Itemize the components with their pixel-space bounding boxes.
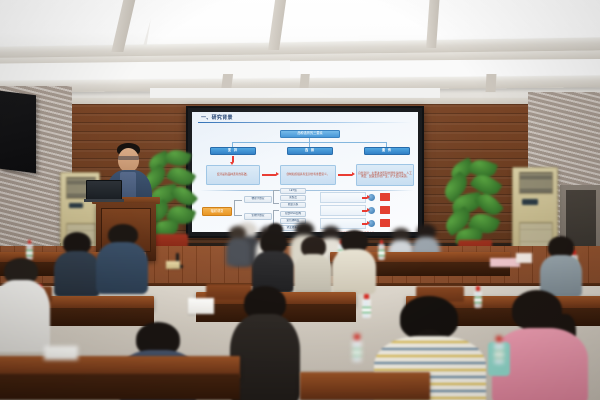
desk-row-c-right (300, 372, 430, 400)
mol-red-box-2 (380, 219, 390, 227)
tree-bracket-left (234, 200, 242, 216)
ceiling (0, 0, 600, 112)
mol-red-box-1 (380, 206, 390, 214)
slide-flow-box-2: 自然变异：主要进化历程的遗传多样性。人工诱变：加速变异的产生，扩大变异来源。 (356, 164, 414, 186)
ac-display-left (69, 203, 83, 208)
slide-pillar-0: 变 异 (210, 147, 256, 155)
slide-phys-item-2: 能量沉积 (280, 202, 306, 208)
slide-title: 一、研究背景 (195, 114, 415, 121)
audience-member-3 (252, 230, 294, 290)
audience-member-5 (332, 230, 376, 292)
desk-panel-c-left (0, 374, 240, 400)
slide-phys-item-0: LET值 (280, 188, 306, 194)
tree-bracket-phys (273, 190, 279, 204)
slide-flow-box-1: 创制和挖掘具有变异的有重要意义。 (280, 165, 336, 185)
presenter-head (118, 148, 139, 172)
slide-pillar-1: 选 择 (287, 147, 333, 155)
wall-mounted-speaker (0, 91, 36, 173)
audience-member-8 (230, 286, 300, 400)
mol-panel-1 (320, 205, 366, 216)
stage-object (166, 261, 180, 269)
slide-divider (200, 190, 414, 191)
slide-flow-box-0: 变异是新品种选育的基础。 (206, 165, 260, 185)
slide-branch-root: 辐射诱变 (202, 207, 232, 216)
notebook[interactable] (188, 298, 214, 314)
conference-room-scene: 一、研究背景 品种选育的三要素 变 异 选 择 遗 传 变异是新品种选育的基础。 (0, 0, 600, 400)
slide-phys-item-1: 离聚法 (280, 195, 306, 201)
water-bottle[interactable] (378, 240, 385, 260)
water-bottle[interactable] (26, 240, 33, 260)
slide-top-node: 品种选育的三要素 (280, 130, 340, 138)
audience-member-6 (540, 236, 582, 294)
audience-member-10 (492, 290, 588, 400)
water-bottle[interactable] (494, 336, 504, 364)
paper-cup[interactable] (516, 253, 532, 263)
ac-grille-right (519, 172, 553, 194)
slide-pillar-2: 遗 传 (364, 147, 410, 155)
notebook[interactable] (44, 346, 78, 360)
ac-display-right (522, 199, 538, 205)
projection-screen[interactable]: 一、研究背景 品种选育的三要素 变 异 选 择 遗 传 变异是新品种选育的基础。 (186, 106, 424, 238)
slide-branch-physical: 物理学效应 (244, 196, 272, 203)
audience-member-1 (54, 232, 100, 294)
slide-title-divider (198, 122, 412, 123)
arrow-right-red-1 (262, 174, 276, 176)
screen-surface: 一、研究背景 品种选育的三要素 变 异 选 择 遗 传 变异是新品种选育的基础。 (192, 112, 418, 232)
slide-bio-item-0: 损伤DNA结构 (280, 211, 306, 217)
slide-branch-biological: 生物学效应 (244, 213, 272, 220)
presentation-slide: 一、研究背景 品种选育的三要素 变 异 选 择 遗 传 变异是新品种选育的基础。 (192, 112, 418, 232)
arrow-down-red (232, 156, 234, 162)
mol-panel-0 (320, 192, 366, 203)
audience-member-far-0 (226, 226, 250, 264)
arrow-right-red-2 (338, 174, 352, 176)
presenter-laptop[interactable] (86, 180, 122, 200)
laptop-base (84, 199, 124, 202)
mol-red-box-0 (380, 193, 390, 201)
water-bottle[interactable] (362, 294, 371, 318)
audience-member-4 (294, 236, 332, 292)
audience-member-7 (0, 258, 50, 348)
water-bottle[interactable] (352, 334, 362, 362)
mol-arrow-0 (362, 197, 367, 199)
presenter-glasses-icon (118, 156, 139, 160)
audience-member-2 (96, 224, 148, 292)
mol-arrow-1 (362, 210, 367, 212)
mol-arrow-2 (362, 223, 367, 225)
